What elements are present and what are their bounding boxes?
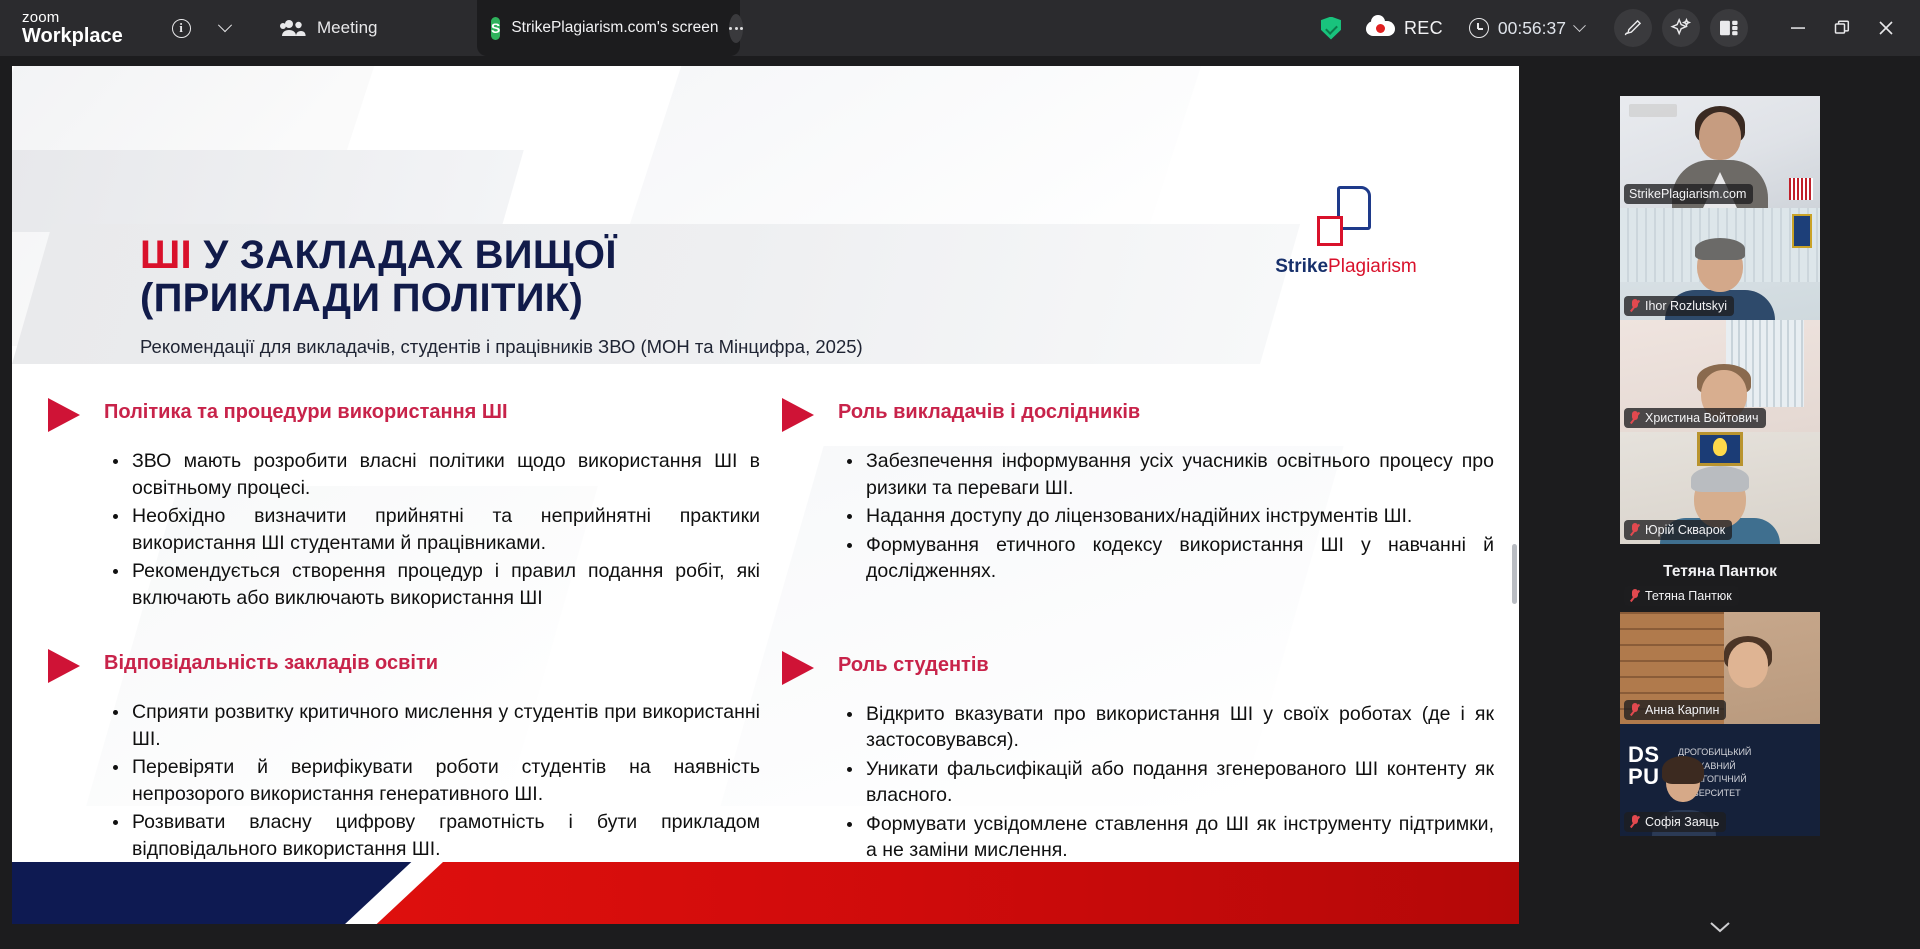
meeting-info-dropdown-button[interactable]	[208, 11, 242, 45]
mic-muted-icon	[1629, 299, 1640, 313]
list-item: Забезпечення інформування усіх учасників…	[844, 448, 1494, 501]
logo-word-strike: Strike	[1275, 256, 1328, 277]
section-title: Політика та процедури використання ШІ	[104, 396, 508, 424]
wall-frame	[1792, 214, 1812, 248]
participant-name: Ihor Rozlutskyi	[1645, 299, 1727, 313]
ai-companion-button[interactable]	[1662, 9, 1700, 47]
mic-muted-icon	[1629, 589, 1640, 603]
participant-name-label: Юрій Скварок	[1624, 520, 1732, 540]
list-item: Уникати фальсифікацій або подання згенер…	[844, 756, 1494, 809]
section-header: Відповідальність закладів освіти	[48, 647, 760, 683]
person-head	[1728, 642, 1768, 688]
person-hair	[1691, 466, 1749, 492]
section-header: Роль викладачів і дослідників	[782, 396, 1494, 432]
qr-code-icon	[1789, 178, 1813, 200]
participant-name-label: Ihor Rozlutskyi	[1624, 296, 1734, 316]
annotate-button[interactable]	[1614, 9, 1652, 47]
meeting-tab[interactable]: Meeting	[280, 18, 377, 38]
slide-subtitle: Рекомендації для викладачів, студентів і…	[140, 336, 1140, 358]
slide-column-left: Політика та процедури використання ШІ ЗВ…	[48, 396, 760, 866]
gallery-strip-top: StrikePlagiarism.com Ihor Rozlutskyi	[1520, 96, 1920, 544]
shield-check-icon	[1321, 17, 1341, 40]
list-item: Формувати усвідомлене ставлення до ШІ як…	[844, 811, 1494, 864]
list-item: Відкрито вказувати про використання ШІ у…	[844, 701, 1494, 754]
participant-thumbnail[interactable]: Анна Карпин	[1620, 612, 1820, 724]
triangle-bullet-icon	[48, 649, 80, 683]
participant-name-label: Анна Карпин	[1624, 700, 1726, 720]
section-header: Роль студентів	[782, 649, 1494, 685]
slide-columns: Політика та процедури використання ШІ ЗВ…	[12, 396, 1519, 866]
participant-name: Тетяна Пантюк	[1645, 589, 1732, 603]
screen-share-tab[interactable]: S StrikePlagiarism.com's screen	[477, 0, 740, 56]
sparkle-icon	[1670, 17, 1692, 39]
section-header: Політика та процедури використання ШІ	[48, 396, 760, 432]
video-overlay-logo	[1629, 104, 1677, 117]
section-spacer	[782, 587, 1494, 649]
clock-icon	[1469, 18, 1489, 38]
slide-title-block: ШІ У ЗАКЛАДАХ ВИЩОЇ (ПРИКЛАДИ ПОЛІТИК) Р…	[140, 234, 1140, 358]
list-item: Необхідно визначити прийнятні та неприйн…	[110, 503, 760, 556]
topbar-right-controls: REC 00:56:37	[1314, 0, 1920, 56]
logo-word-plagiarism: Plagiarism	[1328, 256, 1417, 277]
participant-name-label: Христина Войтович	[1624, 408, 1766, 428]
participant-name: Софія Заяць	[1645, 815, 1719, 829]
zoom-top-bar: zoom Workplace i Meeting S StrikePlagiar…	[0, 0, 1920, 56]
cloud-record-icon	[1366, 21, 1395, 36]
strike-plagiarism-badge-icon: S	[491, 17, 500, 40]
strike-plagiarism-logo: StrikePlagiarism	[1261, 186, 1431, 278]
participant-name: Юрій Скварок	[1645, 523, 1725, 537]
chevron-down-icon[interactable]	[1573, 19, 1586, 32]
participants-panel: StrikePlagiarism.com Ihor Rozlutskyi	[1520, 56, 1920, 949]
layout-panel-icon	[1719, 19, 1739, 37]
meeting-timer-value: 00:56:37	[1498, 18, 1566, 39]
dspu-logo-text: DSPU	[1628, 744, 1660, 787]
meeting-tab-label: Meeting	[317, 18, 377, 38]
section-bullet-list: ЗВО мають розробити власні політики щодо…	[110, 448, 760, 611]
meeting-timer[interactable]: 00:56:37	[1469, 18, 1584, 39]
list-item: Сприяти розвитку критичного мислення у с…	[110, 699, 760, 752]
workplace-wordmark: Workplace	[22, 26, 142, 46]
person-head	[1699, 112, 1741, 160]
slide-column-right: Роль викладачів і дослідників Забезпечен…	[782, 396, 1494, 866]
pencil-icon	[1623, 18, 1643, 38]
mic-muted-icon	[1629, 703, 1640, 717]
recording-label: REC	[1404, 18, 1443, 39]
participant-name: Христина Войтович	[1645, 411, 1759, 425]
more-options-icon[interactable]	[729, 14, 743, 43]
recording-indicator[interactable]: REC	[1366, 18, 1443, 39]
participants-icon	[280, 19, 306, 37]
view-layout-button[interactable]	[1710, 9, 1748, 47]
minimize-button[interactable]	[1778, 8, 1818, 48]
triangle-bullet-icon	[782, 398, 814, 432]
participant-thumbnail[interactable]: StrikePlagiarism.com	[1620, 96, 1820, 208]
person-hair	[1695, 238, 1745, 260]
list-item: ЗВО мають розробити власні політики щодо…	[110, 448, 760, 501]
participant-name: StrikePlagiarism.com	[1629, 187, 1746, 201]
section-bullet-list: Забезпечення інформування усіх учасників…	[844, 448, 1494, 585]
list-item: Розвивати власну цифрову грамотність і б…	[110, 809, 760, 862]
slide-title-line2: (ПРИКЛАДИ ПОЛІТИК)	[140, 276, 583, 320]
participant-name-label: StrikePlagiarism.com	[1624, 184, 1753, 204]
participant-thumbnail[interactable]: Ihor Rozlutskyi	[1620, 208, 1820, 320]
self-name-row[interactable]: Тетяна Пантюк	[1620, 584, 1820, 608]
strike-plagiarism-logo-mark	[1317, 186, 1375, 248]
participant-name: Анна Карпин	[1645, 703, 1719, 717]
close-button[interactable]	[1866, 8, 1906, 48]
list-item: Перевіряти й верифікувати роботи студент…	[110, 754, 760, 807]
section-bullet-list: Сприяти розвитку критичного мислення у с…	[110, 699, 760, 862]
triangle-bullet-icon	[48, 398, 80, 432]
zoom-workplace-logo: zoom Workplace	[22, 10, 142, 46]
presentation-slide: ШІ У ЗАКЛАДАХ ВИЩОЇ (ПРИКЛАДИ ПОЛІТИК) Р…	[12, 66, 1519, 924]
participant-thumbnail[interactable]: DSPU ДРОГОБИЦЬКИЙДЕРЖАВНИЙПЕДАГОГІЧНИЙУН…	[1620, 724, 1820, 836]
section-bullet-list: Відкрито вказувати про використання ШІ у…	[844, 701, 1494, 864]
restore-button[interactable]	[1822, 8, 1862, 48]
section-title: Роль студентів	[838, 649, 989, 677]
chevron-down-icon	[218, 18, 232, 32]
chevron-down-icon	[1708, 920, 1732, 934]
restore-window-icon	[1833, 19, 1851, 37]
emblem-icon	[1713, 438, 1727, 456]
triangle-bullet-icon	[782, 651, 814, 685]
section-spacer	[48, 613, 760, 647]
slide-title: ШІ У ЗАКЛАДАХ ВИЩОЇ (ПРИКЛАДИ ПОЛІТИК)	[140, 234, 1140, 320]
section-title: Відповідальність закладів освіти	[104, 647, 438, 675]
info-icon: i	[172, 19, 191, 38]
share-scrollbar-thumb[interactable]	[1512, 544, 1517, 604]
encryption-status-button[interactable]	[1314, 11, 1348, 45]
gallery-strip-bottom: Тетяна Пантюк Анна Карпин DSPU ДРОГОБИЦЬ…	[1520, 584, 1920, 836]
participant-name-label: Софія Заяць	[1624, 812, 1726, 832]
participant-name-label: Тетяна Пантюк	[1624, 586, 1739, 606]
list-item: Надання доступу до ліцензованих/надійних…	[844, 503, 1494, 530]
participant-thumbnail[interactable]: Христина Войтович	[1620, 320, 1820, 432]
red-square-icon	[1317, 216, 1343, 246]
person-hair	[1662, 756, 1704, 784]
screen-share-tab-label: StrikePlagiarism.com's screen	[511, 19, 718, 37]
mic-muted-icon	[1629, 411, 1640, 425]
meeting-info-button[interactable]: i	[164, 11, 198, 45]
mic-muted-icon	[1629, 523, 1640, 537]
strike-plagiarism-logo-text: StrikePlagiarism	[1261, 256, 1431, 278]
slide-title-highlight: ШІ	[140, 233, 192, 277]
participant-thumbnail[interactable]: Юрій Скварок	[1620, 432, 1820, 544]
mic-muted-icon	[1629, 815, 1640, 829]
list-item: Формування етичного кодексу використання…	[844, 532, 1494, 585]
gallery-scroll-down-button[interactable]	[1708, 920, 1732, 939]
close-icon	[1876, 18, 1896, 38]
section-title: Роль викладачів і дослідників	[838, 396, 1140, 424]
self-name-heading: Тетяна Пантюк	[1520, 563, 1920, 581]
zoom-wordmark: zoom	[22, 10, 142, 25]
list-item: Рекомендується створення процедур і прав…	[110, 558, 760, 611]
title-band-upper	[12, 150, 524, 232]
shared-screen-stage[interactable]: ШІ У ЗАКЛАДАХ ВИЩОЇ (ПРИКЛАДИ ПОЛІТИК) Р…	[12, 66, 1519, 924]
slide-title-rest: У ЗАКЛАДАХ ВИЩОЇ	[192, 233, 617, 277]
minimize-icon	[1789, 19, 1807, 37]
